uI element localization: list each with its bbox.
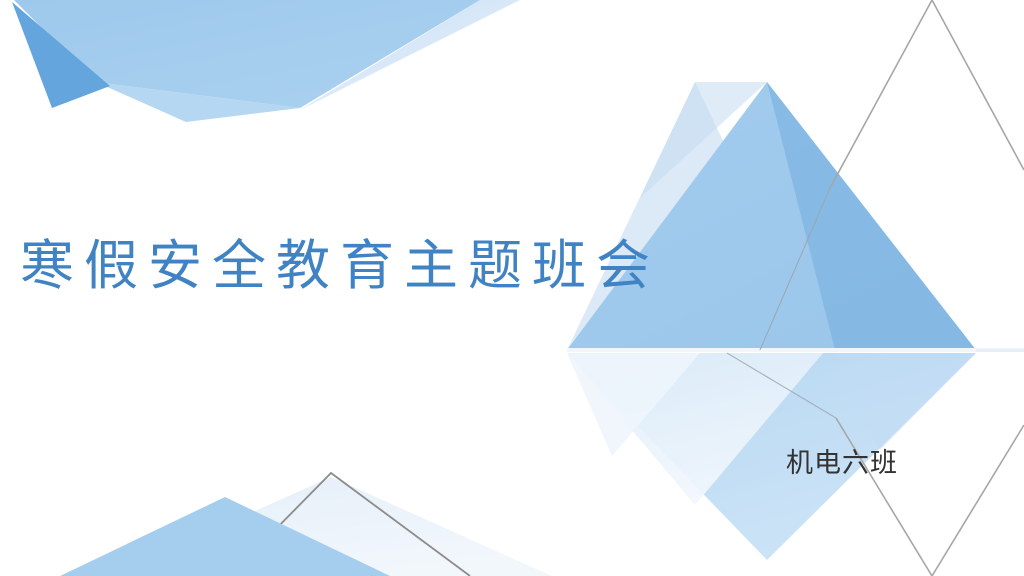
gray-diamond-upper-right-edge bbox=[932, 0, 1024, 170]
bottom-left-decoration-group bbox=[60, 473, 552, 576]
horizontal-divider-group bbox=[567, 348, 1024, 352]
horizontal-divider-line-extension bbox=[976, 349, 1024, 352]
right-lower-triangles-group bbox=[567, 353, 976, 560]
presentation-slide: 寒假安全教育主题班会 机电六班 bbox=[0, 0, 1024, 576]
horizontal-divider-line bbox=[567, 348, 1024, 352]
gray-diamond-lower-right-edge bbox=[932, 425, 1024, 576]
slide-subtitle: 机电六班 bbox=[786, 448, 898, 479]
gray-diamond-upper-left-edge bbox=[830, 0, 932, 188]
top-left-decoration-group bbox=[12, 0, 520, 122]
right-upper-triangles-group bbox=[567, 82, 976, 350]
page-title: 寒假安全教育主题班会 bbox=[20, 237, 660, 296]
